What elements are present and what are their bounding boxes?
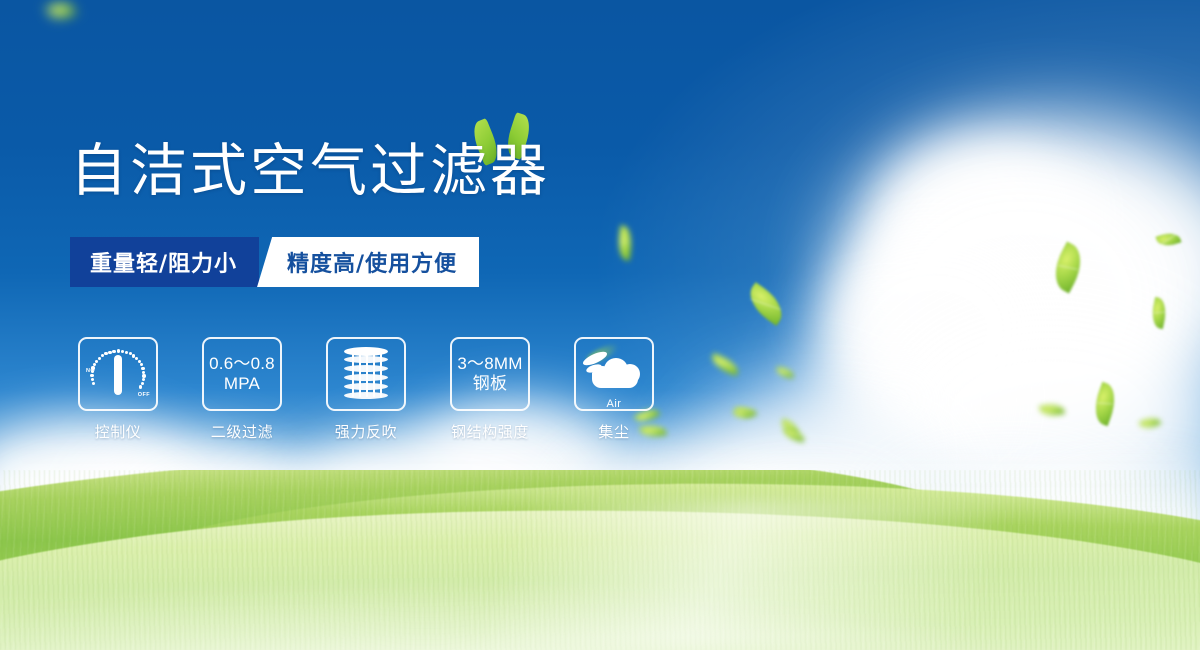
subtitle-right: 精度高/使用方便: [283, 237, 479, 287]
cloud-puff: [800, 320, 990, 480]
cartridge-ring: [344, 356, 388, 363]
feature-icon-box: Air: [574, 337, 654, 411]
floating-leaf-icon: [782, 427, 806, 442]
feature-label: 集尘: [598, 421, 629, 442]
floating-leaf-icon: [1046, 242, 1090, 294]
page-title: 自洁式空气过滤器: [70, 143, 550, 200]
pressure-value: 0.6～0.8: [209, 354, 275, 374]
floating-leaf-icon: [46, 0, 76, 23]
dial-tick: [142, 378, 145, 381]
product-banner: 自洁式空气过滤器 重量轻/阻力小 精度高/使用方便 NO OFF 控制仪 0.6…: [0, 0, 1200, 650]
floating-leaf-icon: [1139, 415, 1161, 432]
dial-off-label: OFF: [138, 392, 150, 398]
dial-tick: [95, 360, 98, 363]
dial-tick: [117, 349, 120, 352]
feature-list: NO OFF 控制仪 0.6～0.8 MPA 二级过滤 强力反吹 3～8MM: [70, 337, 662, 442]
floating-leaf-icon: [1156, 230, 1182, 249]
feature-icon-box: NO OFF: [78, 337, 158, 411]
dial-tick: [125, 351, 128, 354]
control-dial-icon: NO OFF: [87, 346, 149, 402]
feature-label: 控制仪: [95, 421, 142, 442]
grass-field: [0, 470, 1200, 650]
cloud-base: [592, 373, 638, 388]
dial-tick: [91, 378, 94, 381]
dial-tick: [139, 385, 142, 388]
field-highlight: [0, 540, 1200, 650]
cloud-puff: [840, 120, 1200, 420]
dial-tick: [90, 374, 93, 377]
dial-tick: [121, 350, 124, 353]
feature-item-steel[interactable]: 3～8MM 钢板 钢结构强度: [442, 337, 538, 442]
floating-leaf-icon: [742, 282, 790, 326]
dial-needle: [114, 355, 122, 395]
feature-item-blowback[interactable]: 强力反吹: [318, 337, 414, 442]
feature-label: 强力反吹: [335, 421, 397, 442]
cloud-puff: [880, 140, 1080, 290]
cartridge-ring: [344, 365, 388, 372]
steel-thickness: 3～8MM: [457, 354, 522, 374]
feature-icon-box: [326, 337, 406, 411]
cartridge-ring: [344, 392, 388, 399]
feature-item-dust[interactable]: Air 集尘: [566, 337, 662, 442]
cloud-puff: [870, 175, 1170, 425]
feature-item-filtration[interactable]: 0.6～0.8 MPA 二级过滤: [194, 337, 290, 442]
floating-leaf-icon: [775, 367, 794, 379]
cartridge-ring: [344, 374, 388, 381]
dial-tick: [112, 350, 115, 353]
feature-icon-box: 3～8MM 钢板: [450, 337, 530, 411]
subtitle-left: 重量轻/阻力小: [70, 237, 259, 287]
air-cloud-icon: Air: [584, 352, 644, 396]
dial-tick: [141, 367, 144, 370]
feature-item-control[interactable]: NO OFF 控制仪: [70, 337, 166, 442]
steel-material: 钢板: [473, 374, 507, 394]
dial-tick: [92, 382, 95, 385]
filter-cartridge-icon: [344, 347, 388, 401]
cartridge-ring: [344, 347, 388, 356]
dial-tick: [93, 363, 96, 366]
floating-leaf-icon: [1149, 297, 1169, 329]
air-label: Air: [584, 398, 644, 410]
subtitle-divider: [257, 237, 283, 287]
floating-leaf-icon: [709, 353, 742, 376]
cloud-puff: [820, 230, 1050, 430]
floating-leaf-icon: [1089, 382, 1121, 426]
pressure-unit: MPA: [224, 374, 260, 394]
feature-icon-box: 0.6～0.8 MPA: [202, 337, 282, 411]
subtitle-bar: 重量轻/阻力小 精度高/使用方便: [70, 237, 479, 287]
floating-leaf-icon: [1039, 402, 1065, 418]
feature-label: 钢结构强度: [451, 421, 529, 442]
dial-tick: [91, 366, 94, 369]
dial-tick: [98, 357, 101, 360]
cartridge-ring: [344, 383, 388, 390]
dial-tick: [104, 352, 107, 355]
floating-leaf-icon: [616, 225, 635, 261]
dial-tick: [108, 351, 111, 354]
feature-label: 二级过滤: [211, 421, 273, 442]
dial-tick: [140, 363, 143, 366]
